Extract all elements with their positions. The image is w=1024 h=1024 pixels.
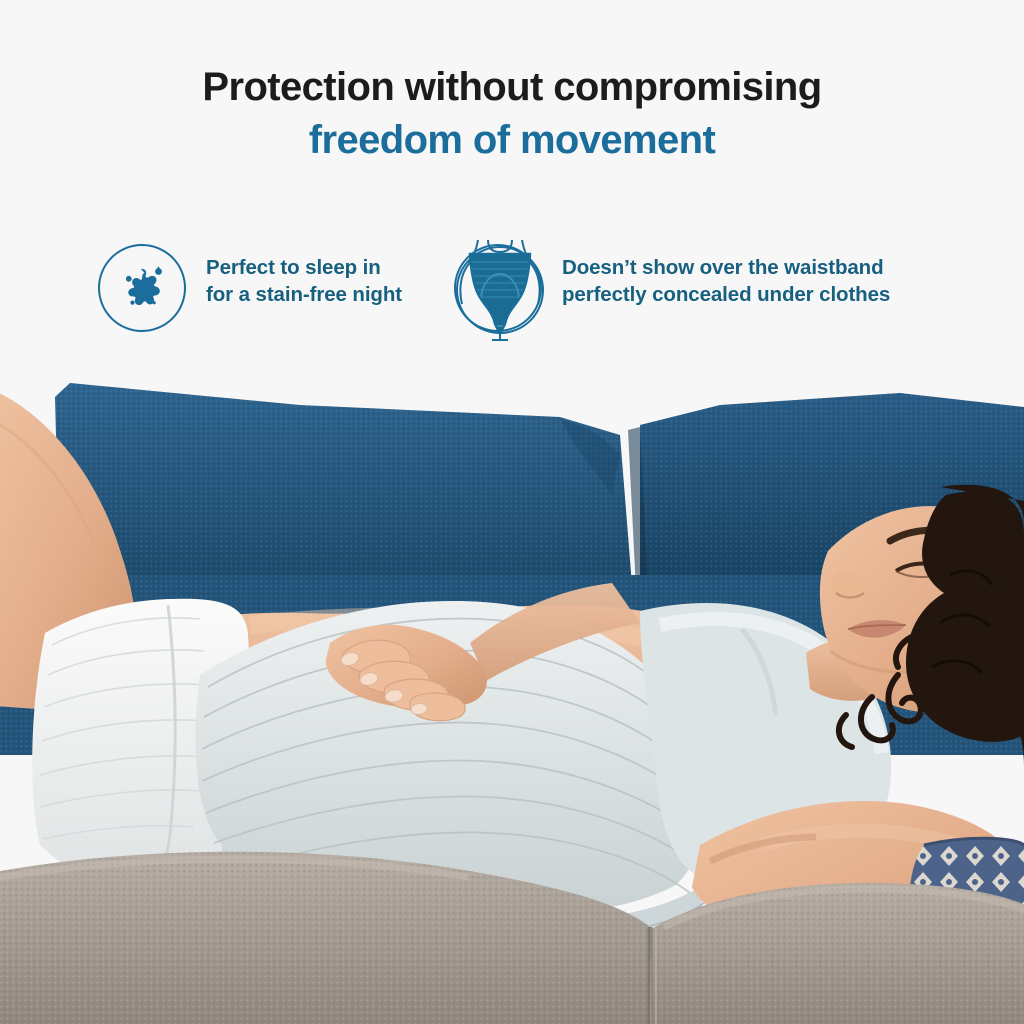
headline-line-2: freedom of movement — [0, 117, 1024, 164]
feature-concealed-line-2: perfectly concealed under clothes — [562, 281, 890, 308]
splash-drop-icon — [98, 244, 186, 332]
feature-concealed-line-1: Doesn’t show over the waistband — [562, 254, 890, 281]
feature-sleep-line-2: for a stain-free night — [206, 281, 402, 308]
feature-item-concealed: Doesn’t show over the waistband perfectl… — [454, 244, 890, 332]
feature-text-concealed: Doesn’t show over the waistband perfectl… — [562, 244, 890, 309]
lifestyle-photo — [0, 375, 1024, 1024]
feature-list: Perfect to sleep in for a stain-free nig… — [0, 244, 1024, 354]
promo-image: Protection without compromising freedom … — [0, 0, 1024, 1024]
headline-line-1: Protection without compromising — [0, 64, 1024, 111]
feature-text-sleep: Perfect to sleep in for a stain-free nig… — [206, 244, 402, 309]
absorbent-underwear-icon — [454, 244, 542, 332]
page-title: Protection without compromising freedom … — [0, 64, 1024, 164]
feature-sleep-line-1: Perfect to sleep in — [206, 254, 402, 281]
feature-item-sleep: Perfect to sleep in for a stain-free nig… — [98, 244, 402, 332]
photo-illustration — [0, 375, 1024, 1024]
